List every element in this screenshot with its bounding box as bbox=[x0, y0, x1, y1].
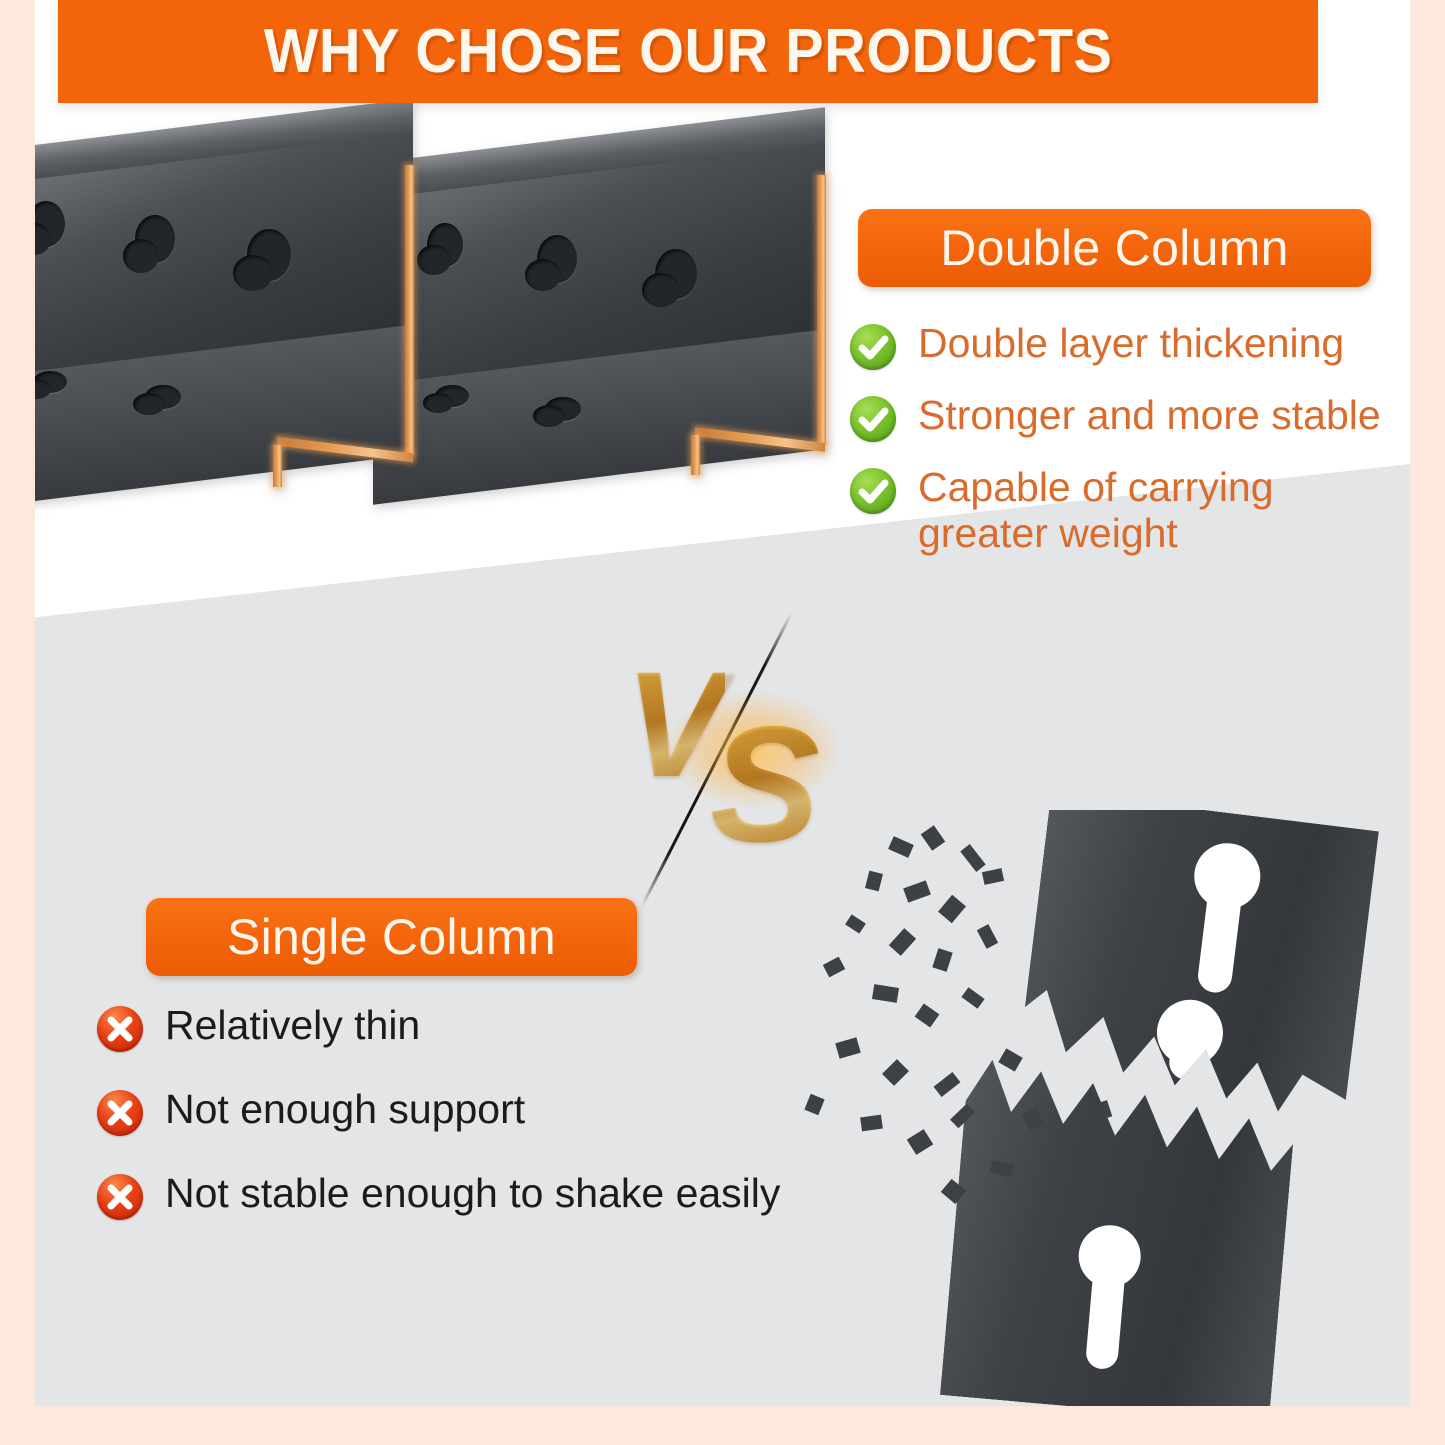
x-circle-icon bbox=[97, 1174, 143, 1220]
double-column-badge: Double Column bbox=[858, 209, 1371, 287]
single-column-badge-label: Single Column bbox=[227, 908, 556, 966]
check-circle-icon bbox=[850, 468, 896, 514]
list-item: Capable of carrying greater weight bbox=[850, 464, 1410, 556]
broken-post-upper-fragment bbox=[1011, 810, 1379, 1159]
broken-post-photo bbox=[795, 810, 1410, 1406]
steel-rail-back bbox=[365, 135, 835, 565]
pros-item-text: Capable of carrying greater weight bbox=[918, 464, 1274, 556]
check-circle-icon bbox=[850, 324, 896, 370]
cons-item-text: Not enough support bbox=[165, 1086, 525, 1132]
cons-item-text: Not stable enough to shake easily bbox=[165, 1170, 780, 1216]
x-circle-icon bbox=[97, 1090, 143, 1136]
infographic-page: V S Double Column Double layer thickenin… bbox=[0, 0, 1445, 1445]
list-item: Double layer thickening bbox=[850, 320, 1410, 370]
double-column-pros-list: Double layer thickening Stronger and mor… bbox=[850, 320, 1410, 578]
steel-rail-front bbox=[35, 123, 435, 563]
x-circle-icon bbox=[97, 1006, 143, 1052]
check-circle-icon bbox=[850, 396, 896, 442]
list-item: Stronger and more stable bbox=[850, 392, 1410, 442]
pros-item-text: Stronger and more stable bbox=[918, 392, 1381, 438]
double-column-rails-photo bbox=[35, 105, 825, 575]
cons-item-text: Relatively thin bbox=[165, 1002, 420, 1048]
broken-post-lower-fragment bbox=[940, 1036, 1300, 1406]
page-title: WHY CHOSE OUR PRODUCTS bbox=[264, 16, 1113, 87]
header-banner: WHY CHOSE OUR PRODUCTS bbox=[58, 0, 1318, 103]
vs-letter-s: S bbox=[710, 690, 820, 879]
double-column-badge-label: Double Column bbox=[940, 219, 1289, 277]
list-item: Not stable enough to shake easily bbox=[97, 1170, 857, 1220]
single-column-cons-list: Relatively thin Not enough support Not s… bbox=[97, 1002, 857, 1254]
list-item: Relatively thin bbox=[97, 1002, 857, 1052]
list-item: Not enough support bbox=[97, 1086, 857, 1136]
content-canvas: V S Double Column Double layer thickenin… bbox=[35, 0, 1410, 1406]
vs-emblem: V S bbox=[615, 630, 895, 880]
pros-item-text: Double layer thickening bbox=[918, 320, 1344, 366]
single-column-badge: Single Column bbox=[146, 898, 637, 976]
